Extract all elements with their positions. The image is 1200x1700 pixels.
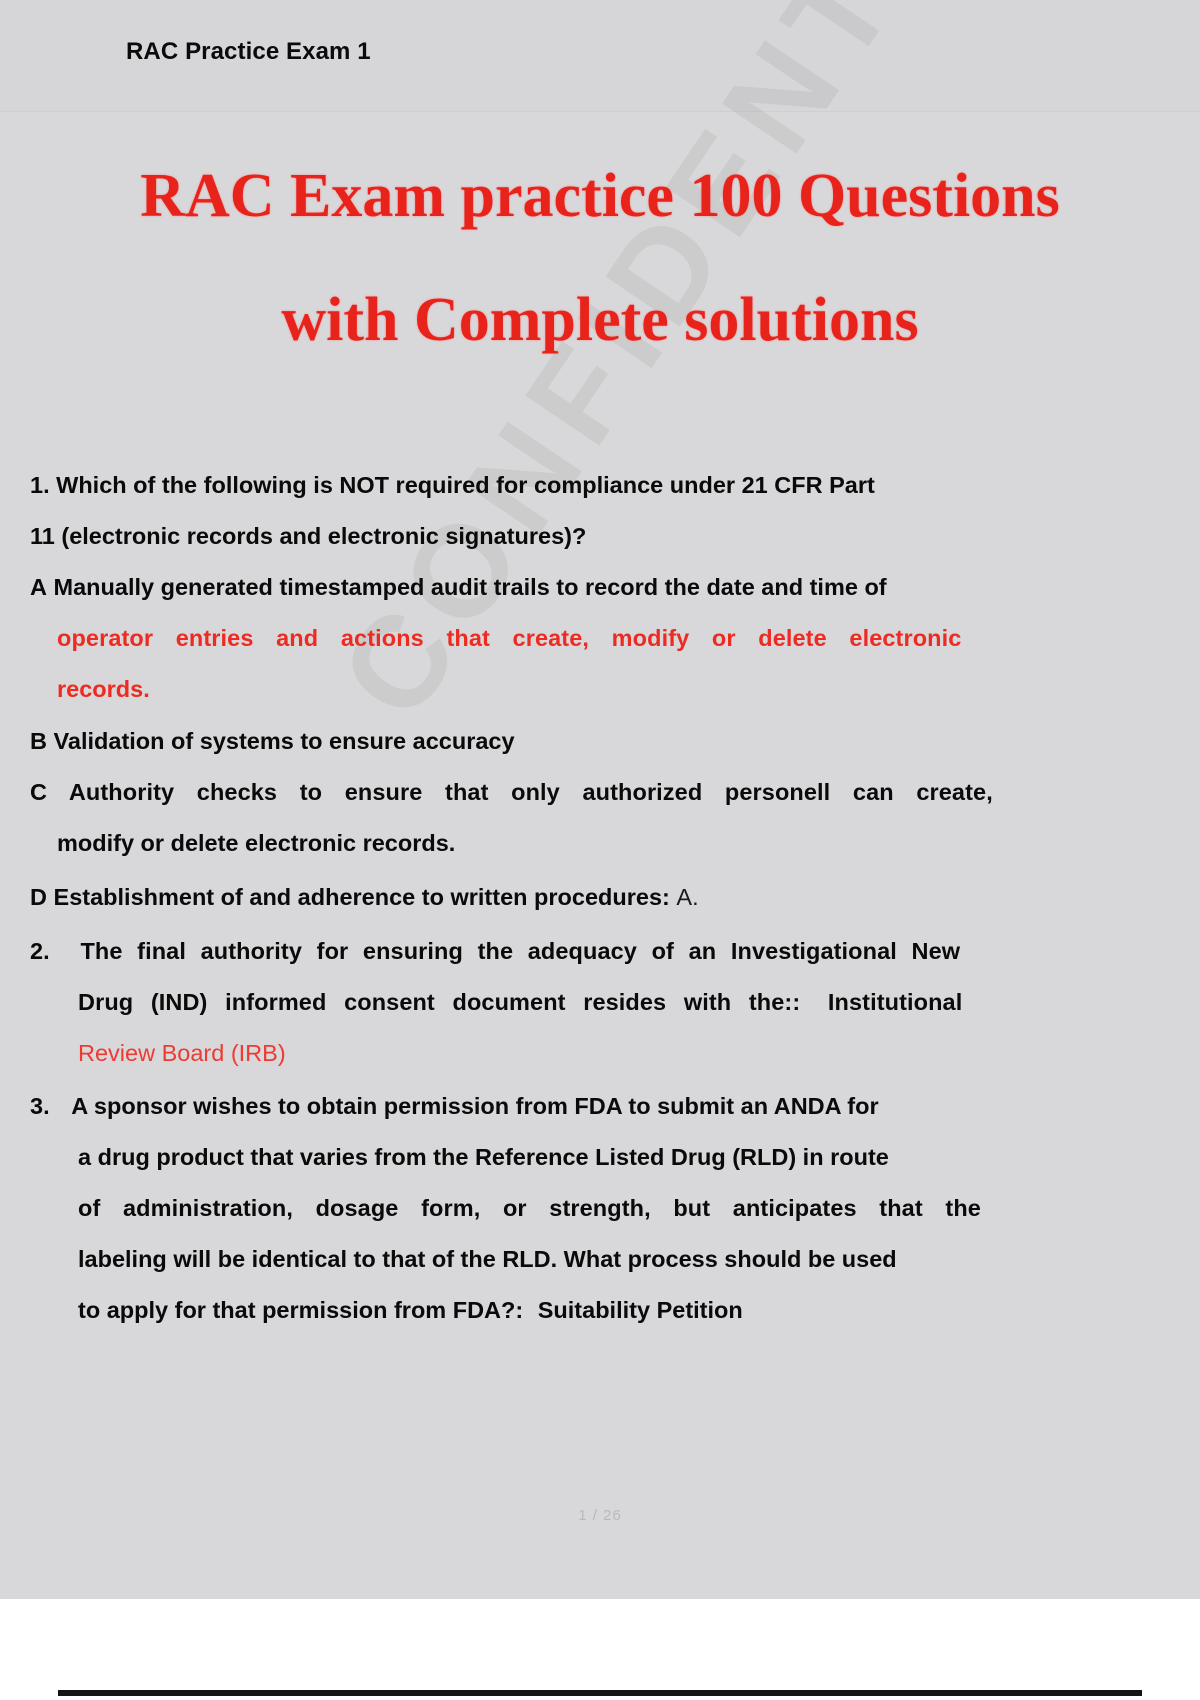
- question-1-prompt-text-1: Which of the following is NOT required f…: [56, 472, 875, 498]
- below-page-whitespace: [0, 1599, 1200, 1700]
- option-a-line-2: operator entries and actions that create…: [30, 613, 1200, 664]
- option-d-label: D: [30, 872, 47, 923]
- question-2-number: 2.: [30, 926, 66, 977]
- document-viewport: RAC Practice Exam 1 CONFIDENTIAL RAC Exa…: [0, 0, 1200, 1700]
- question-3-prompt-text-5: to apply for that permission from FDA?:: [78, 1297, 523, 1323]
- option-d-text-1: Establishment of and adherence to writte…: [54, 884, 670, 910]
- page-number-footer: 1 / 26: [0, 1507, 1200, 1524]
- document-page: RAC Practice Exam 1 CONFIDENTIAL RAC Exa…: [0, 0, 1200, 1599]
- option-a-line-1: A Manually generated timestamped audit t…: [30, 562, 1200, 613]
- option-c-label: C: [30, 767, 47, 818]
- question-2-answer-continuation: Review Board (IRB): [30, 1028, 1200, 1079]
- option-b-text-1: Validation of systems to ensure accuracy: [54, 728, 515, 754]
- question-1-block: 1. Which of the following is NOT require…: [30, 460, 1200, 562]
- question-1-prompt-line-2: 11 (electronic records and electronic si…: [30, 511, 1200, 562]
- question-3-prompt-line-3: of administration, dosage form, or stren…: [30, 1183, 1200, 1234]
- document-content: RAC Exam practice 100 Questions with Com…: [0, 112, 1200, 1599]
- option-a-text-1: Manually generated timestamped audit tra…: [54, 574, 887, 600]
- question-1-option-b: B Validation of systems to ensure accura…: [30, 716, 1200, 767]
- question-1-option-d: D Establishment of and adherence to writ…: [30, 872, 1200, 923]
- question-3-answer-inline: Suitability Petition: [530, 1297, 743, 1323]
- question-2-prompt-text-1: The final authority for ensuring the ade…: [80, 938, 960, 964]
- option-c-line-2: modify or delete electronic records.: [30, 818, 1200, 869]
- option-d-answer: A.: [676, 884, 698, 910]
- question-2-prompt-line-1: 2. The final authority for ensuring the …: [30, 926, 1200, 977]
- page-title: RAC Practice Exam 1: [126, 38, 371, 66]
- document-heading-line-2: with Complete solutions: [0, 258, 1200, 382]
- option-c-line-1: C Authority checks to ensure that only a…: [30, 767, 1200, 818]
- question-3-prompt-line-4: labeling will be identical to that of th…: [30, 1234, 1200, 1285]
- question-3-prompt-line-1: 3. A sponsor wishes to obtain permission…: [30, 1081, 1200, 1132]
- document-header-band: RAC Practice Exam 1: [0, 0, 1200, 112]
- question-1-option-c: C Authority checks to ensure that only a…: [30, 767, 1200, 869]
- option-d-line-1: D Establishment of and adherence to writ…: [30, 872, 1200, 923]
- document-heading: RAC Exam practice 100 Questions with Com…: [0, 134, 1200, 382]
- question-1-number: 1.: [30, 460, 50, 511]
- option-a-label: A: [30, 562, 47, 613]
- bottom-divider: [58, 1690, 1142, 1696]
- question-1-option-a: A Manually generated timestamped audit t…: [30, 562, 1200, 715]
- option-b-line-1: B Validation of systems to ensure accura…: [30, 716, 1200, 767]
- document-heading-line-1: RAC Exam practice 100 Questions: [0, 134, 1200, 258]
- question-3-prompt-line-5: to apply for that permission from FDA?: …: [30, 1285, 1200, 1336]
- option-c-text-1: Authority checks to ensure that only aut…: [69, 779, 993, 805]
- question-2-block: 2. The final authority for ensuring the …: [30, 926, 1200, 1079]
- option-b-label: B: [30, 716, 47, 767]
- question-3-prompt-text-1: A sponsor wishes to obtain permission fr…: [71, 1093, 878, 1119]
- question-3-block: 3. A sponsor wishes to obtain permission…: [30, 1081, 1200, 1336]
- question-1-prompt-line-1: 1. Which of the following is NOT require…: [30, 460, 1200, 511]
- question-3-number: 3.: [30, 1081, 66, 1132]
- question-3-prompt-line-2: a drug product that varies from the Refe…: [30, 1132, 1200, 1183]
- question-2-prompt-text-2: Drug (IND) informed consent document res…: [78, 989, 800, 1015]
- question-2-prompt-line-2: Drug (IND) informed consent document res…: [30, 977, 1200, 1028]
- option-a-line-3: records.: [30, 664, 1200, 715]
- question-2-answer-inline: Institutional: [818, 989, 962, 1015]
